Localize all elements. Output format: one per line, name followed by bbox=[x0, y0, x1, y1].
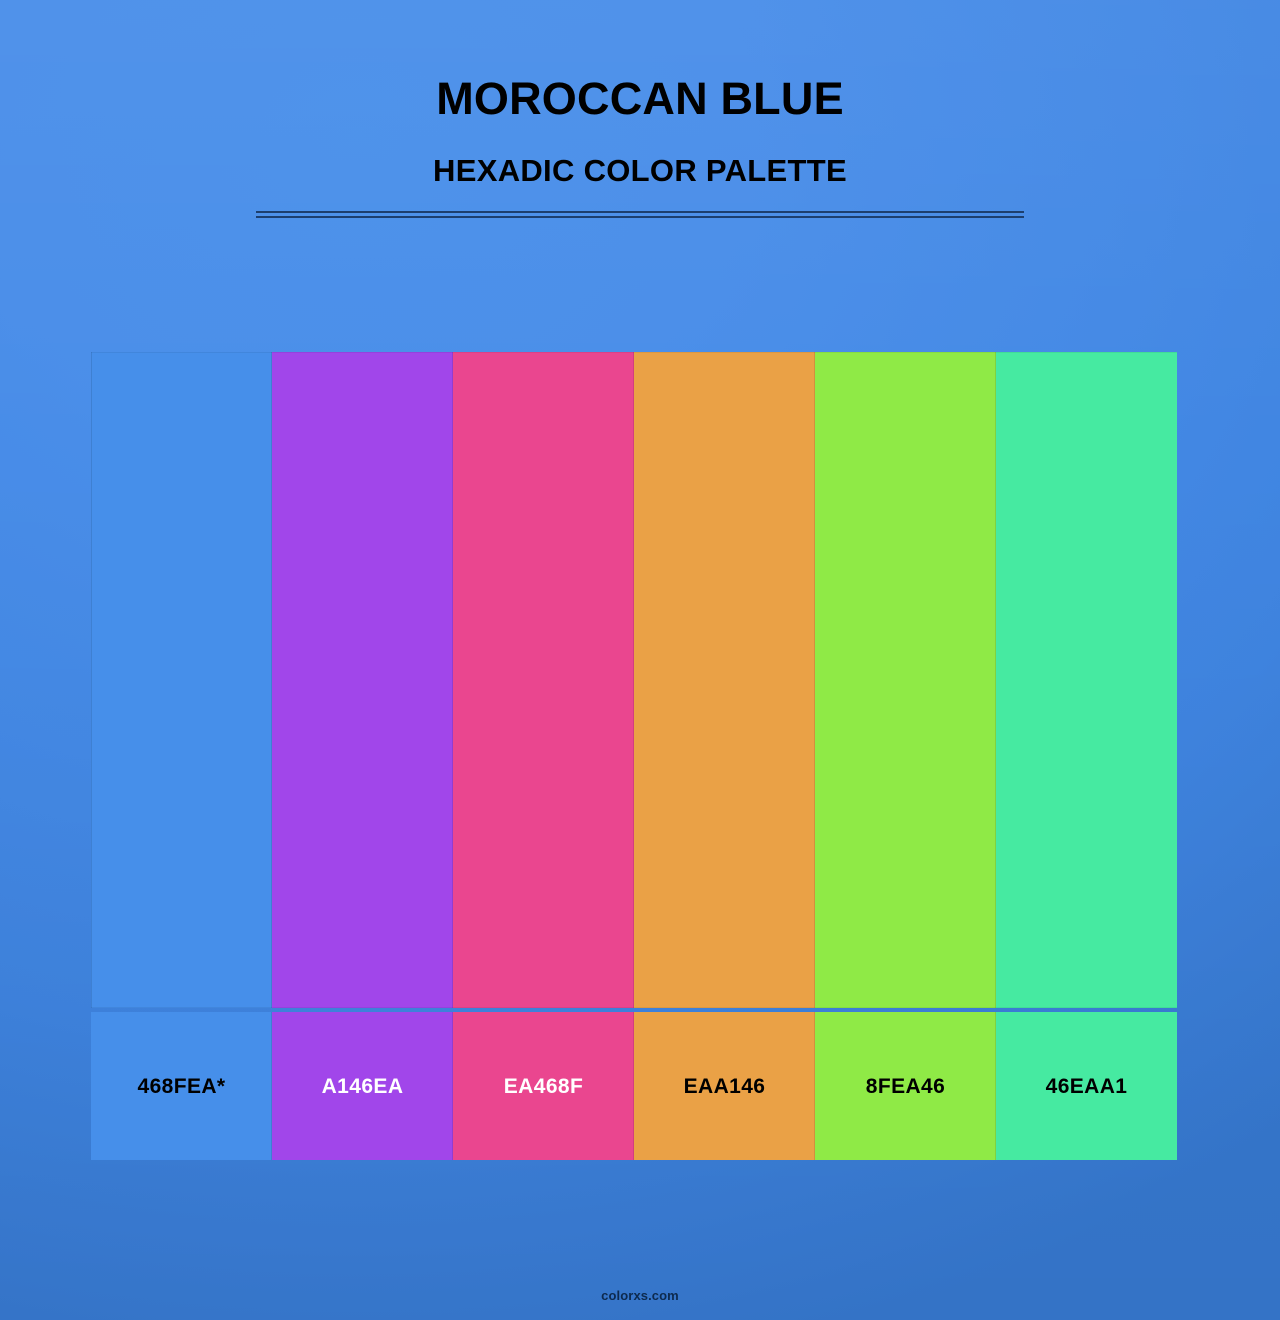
color-hex-label: EAA146 bbox=[684, 1076, 766, 1097]
color-label-cell[interactable]: A146EA bbox=[272, 1012, 453, 1160]
title-divider bbox=[256, 211, 1024, 218]
color-swatch[interactable] bbox=[815, 352, 996, 1008]
color-hex-label: 468FEA* bbox=[137, 1076, 225, 1097]
site-credit: colorxs.com bbox=[601, 1288, 679, 1303]
divider-line-bottom bbox=[256, 216, 1024, 218]
palette-header: MOROCCAN BLUE HEXADIC COLOR PALETTE bbox=[0, 0, 1280, 218]
color-hex-label: 46EAA1 bbox=[1046, 1076, 1128, 1097]
color-swatch[interactable] bbox=[453, 352, 634, 1008]
color-swatch[interactable] bbox=[996, 352, 1177, 1008]
divider-line-top bbox=[256, 211, 1024, 213]
page-title: MOROCCAN BLUE bbox=[0, 72, 1280, 125]
color-hex-label: A146EA bbox=[322, 1076, 404, 1097]
page-footer: colorxs.com bbox=[0, 1287, 1280, 1305]
color-swatch[interactable] bbox=[272, 352, 453, 1008]
color-label-cell[interactable]: 468FEA* bbox=[91, 1012, 272, 1160]
swatch-row bbox=[91, 352, 1177, 1008]
color-label-cell[interactable]: EAA146 bbox=[634, 1012, 815, 1160]
color-label-cell[interactable]: 8FEA46 bbox=[815, 1012, 996, 1160]
color-swatch[interactable] bbox=[634, 352, 815, 1008]
page-subtitle: HEXADIC COLOR PALETTE bbox=[0, 153, 1280, 190]
color-hex-label: 8FEA46 bbox=[866, 1076, 945, 1097]
color-label-cell[interactable]: EA468F bbox=[453, 1012, 634, 1160]
color-label-cell[interactable]: 46EAA1 bbox=[996, 1012, 1177, 1160]
color-swatch[interactable] bbox=[91, 352, 272, 1008]
swatch-label-row: 468FEA* A146EA EA468F EAA146 8FEA46 46EA… bbox=[91, 1012, 1177, 1160]
palette-card: 468FEA* A146EA EA468F EAA146 8FEA46 46EA… bbox=[91, 352, 1177, 1160]
color-hex-label: EA468F bbox=[504, 1076, 583, 1097]
